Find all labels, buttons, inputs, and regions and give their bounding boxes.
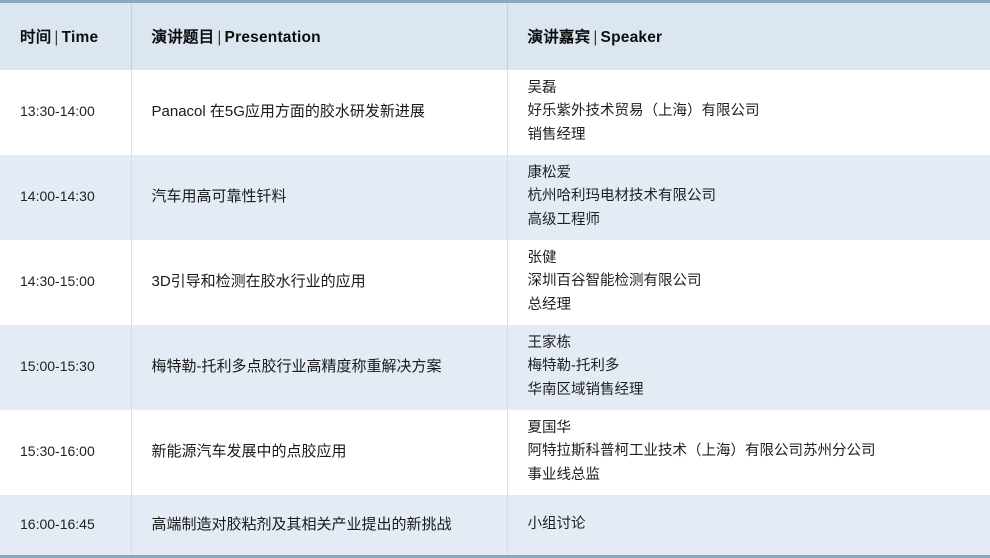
conference-agenda-table: 时间|Time 演讲题目|Presentation 演讲嘉宾|Speaker 1… [0, 0, 990, 558]
cell-time: 13:30-14:00 [0, 70, 131, 155]
cell-presentation: 高端制造对胶粘剂及其相关产业提出的新挑战 [131, 495, 507, 557]
table-body: 13:30-14:00 Panacol 在5G应用方面的胶水研发新进展 吴磊 好… [0, 70, 990, 557]
column-header-presentation: 演讲题目|Presentation [131, 2, 507, 70]
speaker-name: 康松爱 [528, 162, 990, 185]
table-row: 15:00-15:30 梅特勒-托利多点胶行业高精度称重解决方案 王家栋 梅特勒… [0, 325, 990, 410]
table-row: 15:30-16:00 新能源汽车发展中的点胶应用 夏国华 阿特拉斯科普柯工业技… [0, 410, 990, 495]
speaker-organization: 阿特拉斯科普柯工业技术（上海）有限公司苏州分公司 [528, 440, 990, 463]
speaker-job-title: 总经理 [528, 294, 990, 317]
cell-presentation: 梅特勒-托利多点胶行业高精度称重解决方案 [131, 325, 507, 410]
table-row: 16:00-16:45 高端制造对胶粘剂及其相关产业提出的新挑战 小组讨论 [0, 495, 990, 557]
speaker-organization: 深圳百谷智能检测有限公司 [528, 270, 990, 293]
column-header-presentation-en: Presentation [225, 29, 321, 46]
table-row: 13:30-14:00 Panacol 在5G应用方面的胶水研发新进展 吴磊 好… [0, 70, 990, 155]
column-header-speaker: 演讲嘉宾|Speaker [507, 2, 990, 70]
table-row: 14:30-15:00 3D引导和检测在胶水行业的应用 张健 深圳百谷智能检测有… [0, 240, 990, 325]
column-header-speaker-separator: | [590, 29, 600, 46]
column-header-time-separator: | [51, 29, 61, 46]
speaker-job-title: 销售经理 [528, 124, 990, 147]
cell-time: 15:30-16:00 [0, 410, 131, 495]
table-row: 14:00-14:30 汽车用高可靠性钎料 康松爱 杭州哈利玛电材技术有限公司 … [0, 155, 990, 240]
column-header-speaker-en: Speaker [601, 29, 663, 46]
speaker-name: 王家栋 [528, 332, 990, 355]
column-header-time-en: Time [62, 29, 99, 46]
speaker-name: 小组讨论 [528, 513, 990, 536]
speaker-name: 吴磊 [528, 77, 990, 100]
column-header-time-cn: 时间 [20, 29, 51, 46]
cell-presentation: Panacol 在5G应用方面的胶水研发新进展 [131, 70, 507, 155]
agenda-table-container: 时间|Time 演讲题目|Presentation 演讲嘉宾|Speaker 1… [0, 0, 990, 555]
speaker-organization: 好乐紫外技术贸易（上海）有限公司 [528, 100, 990, 123]
column-header-time: 时间|Time [0, 2, 131, 70]
cell-time: 15:00-15:30 [0, 325, 131, 410]
cell-time: 14:00-14:30 [0, 155, 131, 240]
cell-time: 16:00-16:45 [0, 495, 131, 557]
cell-time: 14:30-15:00 [0, 240, 131, 325]
cell-presentation: 新能源汽车发展中的点胶应用 [131, 410, 507, 495]
cell-presentation: 3D引导和检测在胶水行业的应用 [131, 240, 507, 325]
speaker-job-title: 华南区域销售经理 [528, 379, 990, 402]
column-header-speaker-cn: 演讲嘉宾 [528, 29, 591, 46]
cell-presentation: 汽车用高可靠性钎料 [131, 155, 507, 240]
speaker-name: 夏国华 [528, 417, 990, 440]
speaker-organization: 杭州哈利玛电材技术有限公司 [528, 185, 990, 208]
speaker-name: 张健 [528, 247, 990, 270]
column-header-presentation-cn: 演讲题目 [152, 29, 215, 46]
speaker-job-title: 高级工程师 [528, 209, 990, 232]
header-row: 时间|Time 演讲题目|Presentation 演讲嘉宾|Speaker [0, 2, 990, 70]
cell-speaker: 张健 深圳百谷智能检测有限公司 总经理 [507, 240, 990, 325]
cell-speaker: 夏国华 阿特拉斯科普柯工业技术（上海）有限公司苏州分公司 事业线总监 [507, 410, 990, 495]
cell-speaker: 小组讨论 [507, 495, 990, 557]
table-header: 时间|Time 演讲题目|Presentation 演讲嘉宾|Speaker [0, 2, 990, 70]
cell-speaker: 王家栋 梅特勒-托利多 华南区域销售经理 [507, 325, 990, 410]
speaker-organization: 梅特勒-托利多 [528, 355, 990, 378]
cell-speaker: 康松爱 杭州哈利玛电材技术有限公司 高级工程师 [507, 155, 990, 240]
column-header-presentation-separator: | [214, 29, 224, 46]
speaker-job-title: 事业线总监 [528, 464, 990, 487]
cell-speaker: 吴磊 好乐紫外技术贸易（上海）有限公司 销售经理 [507, 70, 990, 155]
